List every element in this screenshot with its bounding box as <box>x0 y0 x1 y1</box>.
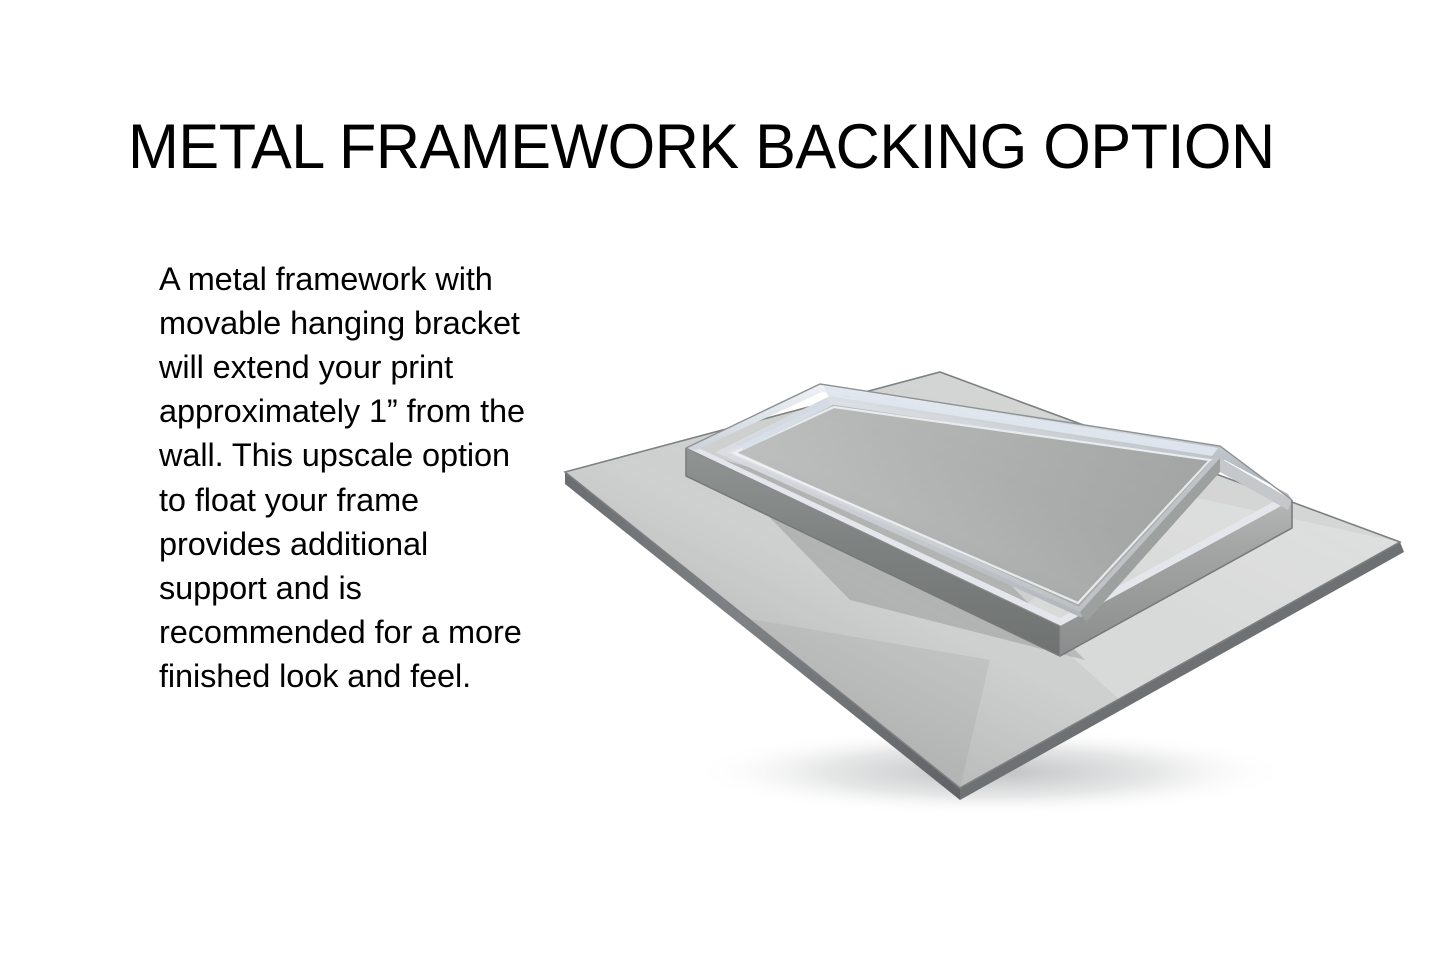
product-photo <box>520 360 1420 820</box>
page-title: METAL FRAMEWORK BACKING OPTION <box>128 114 1311 180</box>
body-paragraph: A metal framework with movable hanging b… <box>159 257 541 699</box>
metal-framework-backing-plate-illustration <box>520 360 1420 820</box>
slide-canvas: METAL FRAMEWORK BACKING OPTION A metal f… <box>0 0 1445 963</box>
